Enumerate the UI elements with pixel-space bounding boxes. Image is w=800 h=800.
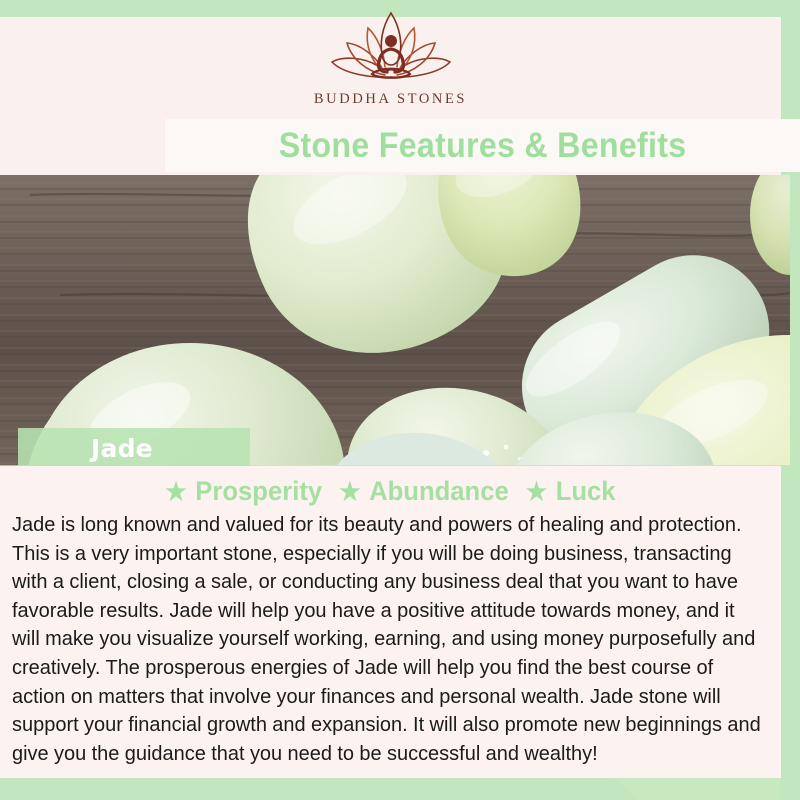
page-title: Stone Features & Benefits (279, 126, 687, 166)
infographic-page: BUDDHA STONES Stone Features & Benefits (0, 0, 800, 800)
stone-description: Jade is long known and valued for its be… (12, 511, 765, 768)
brand-logo: BUDDHA STONES (0, 8, 781, 108)
stone-name: Jade (91, 434, 153, 463)
star-icon: ★ (165, 478, 186, 506)
star-icon: ★ (339, 478, 360, 506)
benefit-luck: Luck (556, 476, 616, 506)
content-panel: ★Prosperity★Abundance★Luck Jade is long … (0, 466, 781, 778)
star-icon: ★ (526, 478, 547, 506)
benefits-list: ★Prosperity★Abundance★Luck (20, 466, 762, 507)
lotus-meditation-figure-icon (316, 8, 466, 88)
benefit-abundance: Abundance (369, 476, 509, 506)
stone-photo (0, 175, 790, 465)
benefit-prosperity: Prosperity (195, 476, 322, 506)
title-banner: Stone Features & Benefits (165, 119, 800, 172)
stone-label-bar: Jade (18, 428, 250, 468)
brand-name: BUDDHA STONES (314, 91, 467, 108)
stone-photo-illustration (0, 175, 790, 465)
